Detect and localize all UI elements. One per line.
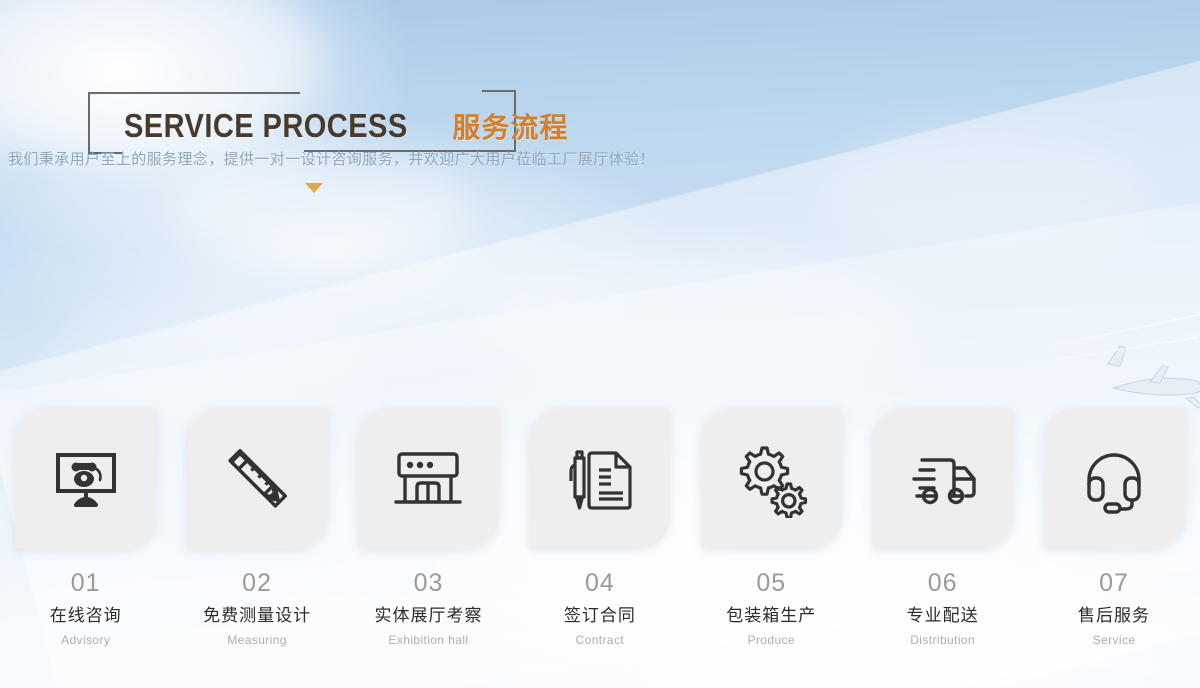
- step-number: 03: [414, 571, 444, 596]
- service-step-03[interactable]: 03 实体展厅考察 Exhibition hall: [343, 408, 514, 646]
- step-label-cn: 售后服务: [1078, 607, 1150, 624]
- step-icon-card[interactable]: [15, 408, 156, 549]
- service-step-04[interactable]: 04 签订合同 Contract: [514, 408, 685, 646]
- step-label-cn: 专业配送: [907, 607, 979, 624]
- step-label-cn: 包装箱生产: [726, 607, 816, 624]
- step-label-cn: 在线咨询: [50, 607, 122, 624]
- contrail-icon: [1010, 310, 1200, 356]
- step-number: 01: [71, 571, 101, 596]
- headset-icon: [1075, 440, 1153, 518]
- step-icon-card[interactable]: [187, 408, 328, 549]
- step-label-cn: 免费测量设计: [203, 607, 311, 624]
- page-title-cn: 服务流程: [452, 106, 568, 146]
- gears-icon: [732, 440, 810, 518]
- step-icon-card[interactable]: [529, 408, 670, 549]
- monitor-phone-icon: [48, 441, 124, 517]
- step-number: 07: [1099, 571, 1129, 596]
- service-process-banner: SERVICE PROCESS 服务流程 我们秉承用户至上的服务理念，提供一对一…: [0, 0, 1200, 688]
- headline-frame: SERVICE PROCESS 服务流程: [88, 92, 516, 152]
- cloud-decor: [40, 300, 360, 420]
- step-number: 02: [242, 571, 272, 596]
- ruler-pencil-icon: [219, 441, 295, 517]
- service-step-07[interactable]: 07 售后服务 Service: [1028, 408, 1199, 646]
- step-label-en: Distribution: [910, 634, 975, 646]
- storefront-icon: [390, 441, 466, 517]
- cloud-decor: [480, 250, 910, 400]
- step-number: 05: [756, 571, 786, 596]
- service-step-06[interactable]: 06 专业配送 Distribution: [857, 408, 1028, 646]
- page-title: SERVICE PROCESS 服务流程: [124, 106, 568, 146]
- step-label-en: Service: [1093, 634, 1136, 646]
- service-step-02[interactable]: 02 免费测量设计 Measuring: [171, 408, 342, 646]
- service-step-01[interactable]: 01 在线咨询 Advisory: [0, 408, 171, 646]
- step-icon-card[interactable]: [872, 408, 1013, 549]
- step-label-cn: 实体展厅考察: [374, 607, 482, 624]
- contrail-icon: [1010, 336, 1198, 368]
- step-label-en: Advisory: [61, 634, 110, 646]
- delivery-truck-icon: [904, 440, 982, 518]
- step-label-cn: 签订合同: [564, 607, 636, 624]
- page-subtitle: 我们秉承用户至上的服务理念，提供一对一设计咨询服务，并欢迎广大用户莅临工厂展厅体…: [8, 148, 1108, 169]
- page-title-en: SERVICE PROCESS: [124, 107, 408, 145]
- cloud-decor: [820, 120, 1150, 260]
- service-steps-list: 01 在线咨询 Advisory: [0, 408, 1200, 646]
- step-label-en: Contract: [576, 634, 625, 646]
- pen-document-icon: [562, 441, 638, 517]
- service-step-05[interactable]: 05 包装箱生产 Produce: [686, 408, 857, 646]
- step-label-en: Measuring: [227, 634, 287, 646]
- step-icon-card[interactable]: [358, 408, 499, 549]
- step-number: 06: [928, 571, 958, 596]
- triangle-down-icon: [305, 183, 323, 193]
- step-icon-card[interactable]: [701, 408, 842, 549]
- step-label-en: Exhibition hall: [388, 634, 468, 646]
- step-icon-card[interactable]: [1044, 408, 1185, 549]
- step-number: 04: [585, 571, 615, 596]
- step-label-en: Produce: [748, 634, 796, 646]
